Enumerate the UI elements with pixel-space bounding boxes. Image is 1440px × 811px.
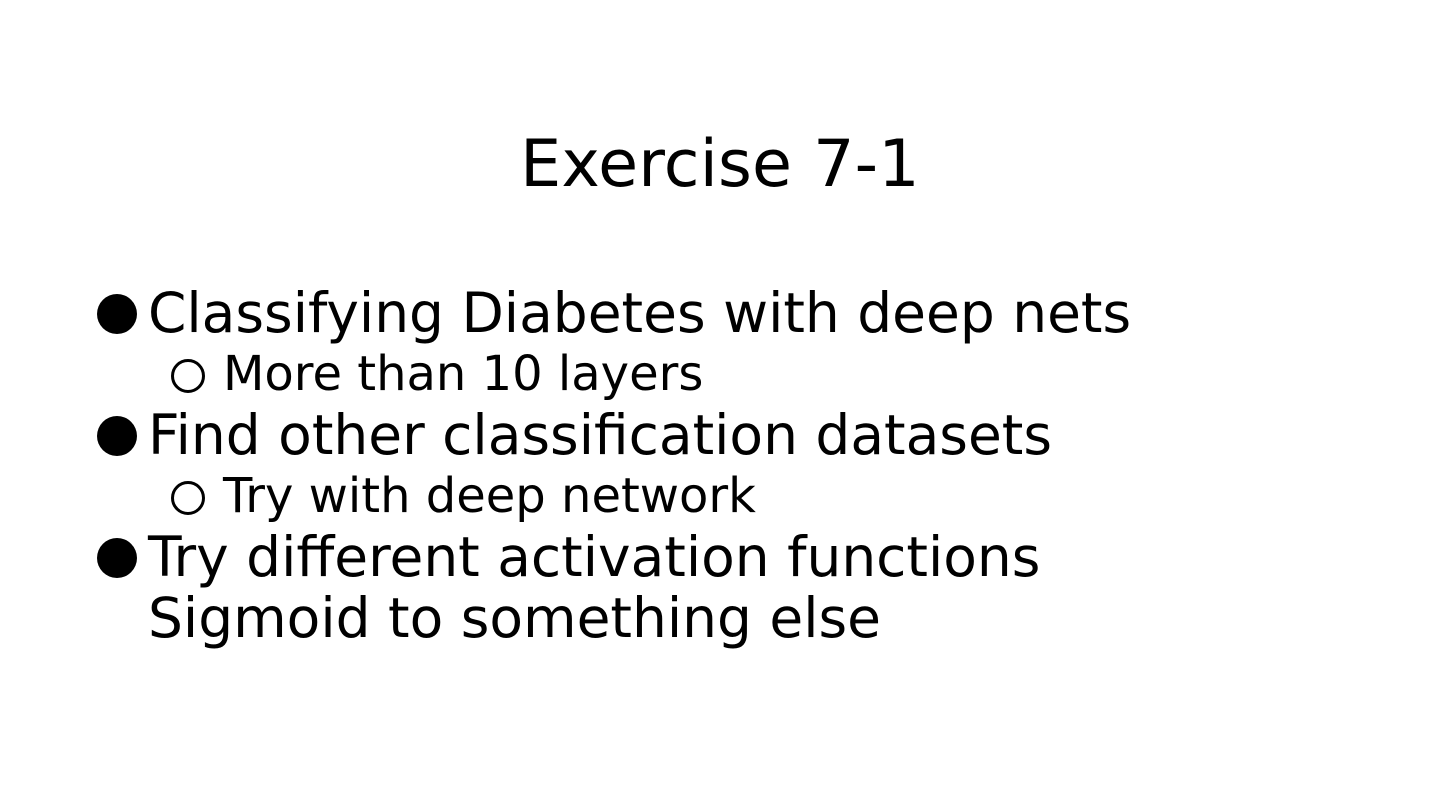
- bullet-item-level2: More than 10 layers: [90, 344, 1390, 405]
- bullet-text: Find other classification datasets: [148, 405, 1052, 466]
- bullet-text: Try different activation functions: [148, 527, 1040, 588]
- slide-title: Exercise 7-1: [0, 126, 1440, 204]
- hollow-circle-bullet-icon: [90, 466, 223, 527]
- hollow-circle-bullet-icon: [90, 344, 223, 405]
- bullet-item-level1: Try different activation functions: [90, 527, 1390, 588]
- bullet-item-level1: Find other classification datasets: [90, 405, 1390, 466]
- filled-circle-bullet-icon: [90, 527, 148, 588]
- no-bullet-spacer: [90, 588, 148, 649]
- slide-body-bullet-list: Classifying Diabetes with deep nets More…: [90, 283, 1390, 649]
- bullet-text: Sigmoid to something else: [148, 588, 881, 649]
- bullet-item-level2: Try with deep network: [90, 466, 1390, 527]
- bullet-text: More than 10 layers: [223, 344, 703, 405]
- bullet-text: Try with deep network: [223, 466, 756, 527]
- filled-circle-bullet-icon: [90, 405, 148, 466]
- bullet-item-continuation: Sigmoid to something else: [90, 588, 1390, 649]
- presentation-slide: Exercise 7-1 Classifying Diabetes with d…: [0, 0, 1440, 811]
- filled-circle-bullet-icon: [90, 283, 148, 344]
- bullet-item-level1: Classifying Diabetes with deep nets: [90, 283, 1390, 344]
- bullet-text: Classifying Diabetes with deep nets: [148, 283, 1131, 344]
